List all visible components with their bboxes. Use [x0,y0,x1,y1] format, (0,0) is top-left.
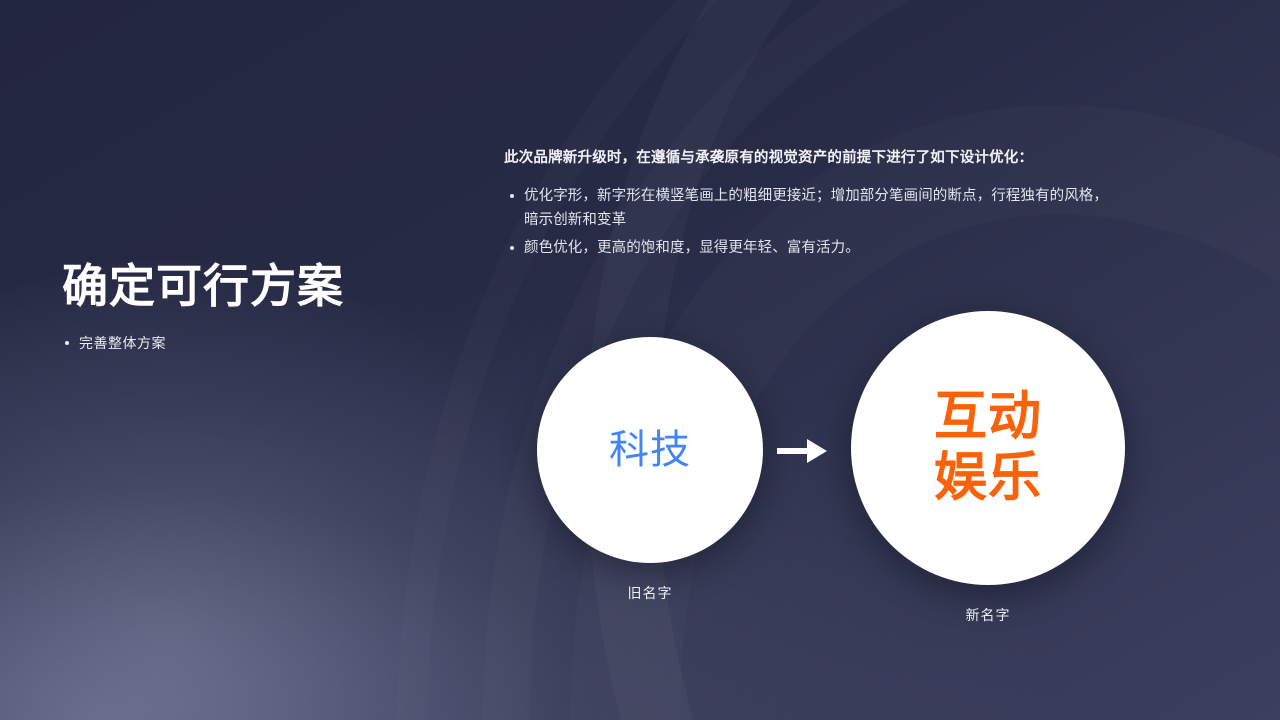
old-name-node: 科技 旧名字 [537,337,763,603]
old-name-text: 科技 [609,428,691,473]
rebrand-diagram: 科技 旧名字 互动 娱乐 新名字 [0,0,1280,720]
arrow-right-icon [777,437,827,465]
old-name-bubble: 科技 [537,337,763,563]
slide-canvas: 确定可行方案 完善整体方案 此次品牌新升级时，在遵循与承袭原有的视觉资产的前提下… [0,0,1280,720]
new-name-bubble: 互动 娱乐 [851,311,1125,585]
new-name-caption: 新名字 [851,605,1125,625]
old-name-caption: 旧名字 [537,583,763,603]
new-name-text: 互动 娱乐 [934,387,1042,509]
new-name-node: 互动 娱乐 新名字 [851,311,1125,625]
